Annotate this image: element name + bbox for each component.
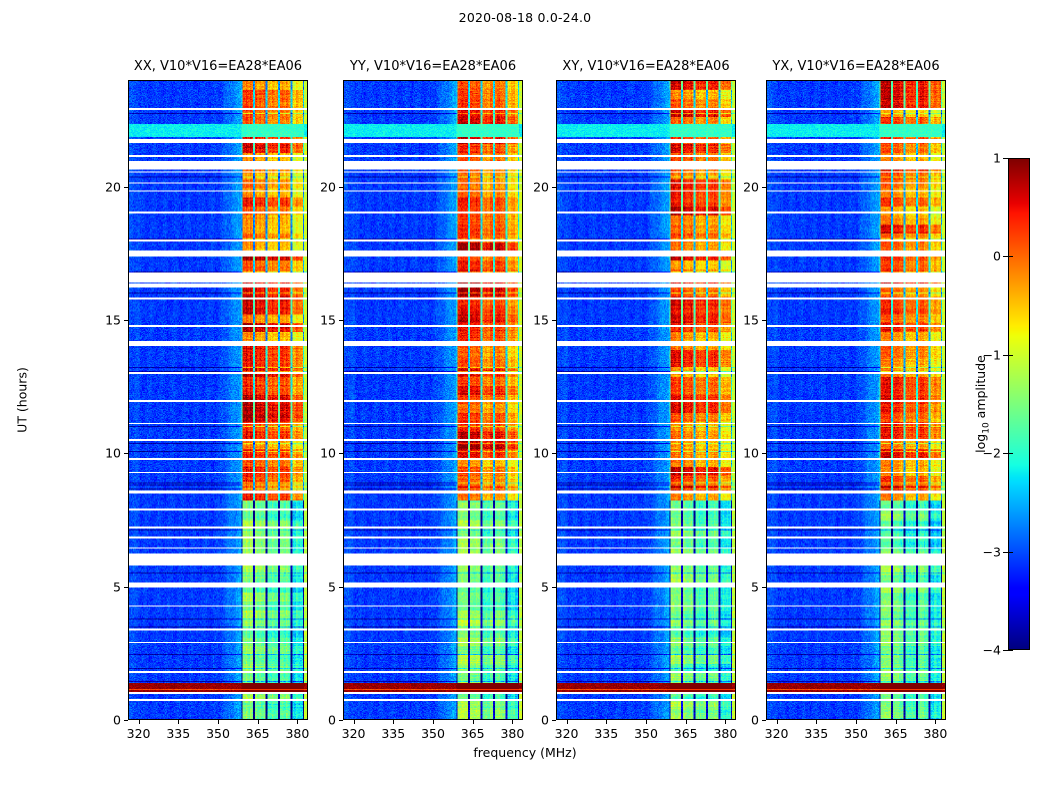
- x-tick-mark: [258, 720, 259, 724]
- x-tick-label: 320: [555, 726, 579, 741]
- x-tick-label: 350: [844, 726, 868, 741]
- x-tick-mark: [297, 720, 298, 724]
- y-tick-mark: [339, 720, 343, 721]
- colorbar-tick-mark-inner: [1008, 158, 1013, 159]
- y-tick-label: 0: [328, 713, 336, 728]
- dynamic-spectrum-yx: [767, 81, 945, 719]
- colorbar-label-tail: amplitude: [973, 355, 988, 422]
- y-tick-label: 0: [541, 713, 549, 728]
- y-tick-label: 0: [113, 713, 121, 728]
- spectrum-panel-yx[interactable]: YX, V10*V16=EA28*EA063203353503653800510…: [766, 80, 946, 720]
- x-tick-label: 320: [127, 726, 151, 741]
- dynamic-spectrum-yy: [344, 81, 522, 719]
- x-tick-label: 365: [674, 726, 698, 741]
- y-axis-label: UT (hours): [15, 367, 30, 433]
- y-tick-label: 20: [743, 179, 759, 194]
- dynamic-spectrum-xx: [129, 81, 307, 719]
- x-tick-label: 365: [884, 726, 908, 741]
- x-tick-label: 365: [461, 726, 485, 741]
- colorbar-label: log10 amplitude: [973, 355, 992, 453]
- colorbar-tick-label: 0: [993, 249, 1001, 264]
- y-tick-mark: [124, 453, 128, 454]
- x-tick-mark: [646, 720, 647, 724]
- y-tick-mark: [339, 187, 343, 188]
- colorbar-label-sub: 10: [981, 422, 991, 433]
- x-tick-mark: [725, 720, 726, 724]
- y-tick-label: 10: [533, 446, 549, 461]
- figure-suptitle: 2020-08-18 0.0-24.0: [0, 10, 1050, 25]
- x-tick-label: 350: [634, 726, 658, 741]
- y-tick-label: 5: [328, 579, 336, 594]
- x-tick-label: 380: [713, 726, 737, 741]
- y-tick-mark: [552, 587, 556, 588]
- spectrum-panel-xy[interactable]: XY, V10*V16=EA28*EA063203353503653800510…: [556, 80, 736, 720]
- y-tick-label: 5: [751, 579, 759, 594]
- y-tick-label: 15: [533, 313, 549, 328]
- y-tick-mark: [552, 320, 556, 321]
- y-tick-mark: [762, 187, 766, 188]
- x-tick-mark: [393, 720, 394, 724]
- panel-title-xy: XY, V10*V16=EA28*EA06: [562, 59, 729, 74]
- y-tick-label: 0: [751, 713, 759, 728]
- x-tick-label: 320: [765, 726, 789, 741]
- colorbar-tick-mark-inner: [1008, 355, 1013, 356]
- panel-title-yy: YY, V10*V16=EA28*EA06: [350, 59, 516, 74]
- x-tick-mark: [178, 720, 179, 724]
- x-tick-mark: [856, 720, 857, 724]
- y-tick-label: 5: [113, 579, 121, 594]
- axes-frame-xy: [556, 80, 736, 720]
- y-tick-mark: [762, 587, 766, 588]
- x-tick-mark: [473, 720, 474, 724]
- spectrum-panel-xx[interactable]: XX, V10*V16=EA28*EA063203353503653800510…: [128, 80, 308, 720]
- x-tick-mark: [354, 720, 355, 724]
- axes-frame-yy: [343, 80, 523, 720]
- axes-frame-yx: [766, 80, 946, 720]
- y-tick-mark: [762, 320, 766, 321]
- y-tick-label: 20: [533, 179, 549, 194]
- x-axis-label: frequency (MHz): [0, 745, 1050, 760]
- y-tick-label: 10: [320, 446, 336, 461]
- x-tick-label: 380: [923, 726, 947, 741]
- colorbar-tick-mark-inner: [1008, 552, 1013, 553]
- colorbar-tick-label: −3: [983, 544, 1001, 559]
- y-tick-label: 15: [320, 313, 336, 328]
- y-tick-label: 20: [105, 179, 121, 194]
- y-tick-mark: [124, 720, 128, 721]
- y-tick-mark: [339, 587, 343, 588]
- x-tick-mark: [512, 720, 513, 724]
- x-tick-label: 380: [500, 726, 524, 741]
- colorbar-tick-mark-inner: [1008, 453, 1013, 454]
- x-tick-mark: [218, 720, 219, 724]
- x-tick-label: 350: [421, 726, 445, 741]
- spectrum-panel-yy[interactable]: YY, V10*V16=EA28*EA063203353503653800510…: [343, 80, 523, 720]
- colorbar-label-main: log: [973, 434, 988, 453]
- x-tick-label: 335: [381, 726, 405, 741]
- colorbar-tick-label: −4: [983, 643, 1001, 658]
- panel-title-xx: XX, V10*V16=EA28*EA06: [134, 59, 302, 74]
- x-tick-label: 320: [342, 726, 366, 741]
- y-tick-mark: [552, 720, 556, 721]
- y-tick-mark: [124, 187, 128, 188]
- y-tick-mark: [762, 453, 766, 454]
- y-tick-label: 15: [743, 313, 759, 328]
- y-tick-label: 10: [743, 446, 759, 461]
- x-tick-mark: [433, 720, 434, 724]
- y-tick-label: 5: [541, 579, 549, 594]
- colorbar[interactable]: 10−1−2−3−4: [1008, 158, 1030, 650]
- x-tick-label: 335: [804, 726, 828, 741]
- colorbar-tick-mark-inner: [1008, 650, 1013, 651]
- y-tick-label: 15: [105, 313, 121, 328]
- y-tick-mark: [124, 587, 128, 588]
- y-tick-mark: [762, 720, 766, 721]
- colorbar-gradient: [1008, 158, 1030, 650]
- y-tick-mark: [339, 453, 343, 454]
- x-tick-mark: [606, 720, 607, 724]
- x-tick-mark: [935, 720, 936, 724]
- axes-frame-xx: [128, 80, 308, 720]
- x-tick-label: 350: [206, 726, 230, 741]
- y-tick-label: 20: [320, 179, 336, 194]
- y-tick-mark: [339, 320, 343, 321]
- x-tick-mark: [896, 720, 897, 724]
- x-tick-label: 380: [285, 726, 309, 741]
- figure-canvas: 2020-08-18 0.0-24.0 XX, V10*V16=EA28*EA0…: [0, 0, 1050, 800]
- y-tick-label: 10: [105, 446, 121, 461]
- x-tick-label: 335: [166, 726, 190, 741]
- x-tick-mark: [567, 720, 568, 724]
- colorbar-tick-mark-inner: [1008, 256, 1013, 257]
- y-tick-mark: [552, 453, 556, 454]
- y-tick-mark: [124, 320, 128, 321]
- x-tick-mark: [777, 720, 778, 724]
- x-tick-label: 335: [594, 726, 618, 741]
- panel-title-yx: YX, V10*V16=EA28*EA06: [772, 59, 939, 74]
- x-tick-mark: [686, 720, 687, 724]
- x-tick-mark: [816, 720, 817, 724]
- colorbar-tick-label: 1: [993, 151, 1001, 166]
- dynamic-spectrum-xy: [557, 81, 735, 719]
- x-tick-mark: [139, 720, 140, 724]
- x-tick-label: 365: [246, 726, 270, 741]
- y-tick-mark: [552, 187, 556, 188]
